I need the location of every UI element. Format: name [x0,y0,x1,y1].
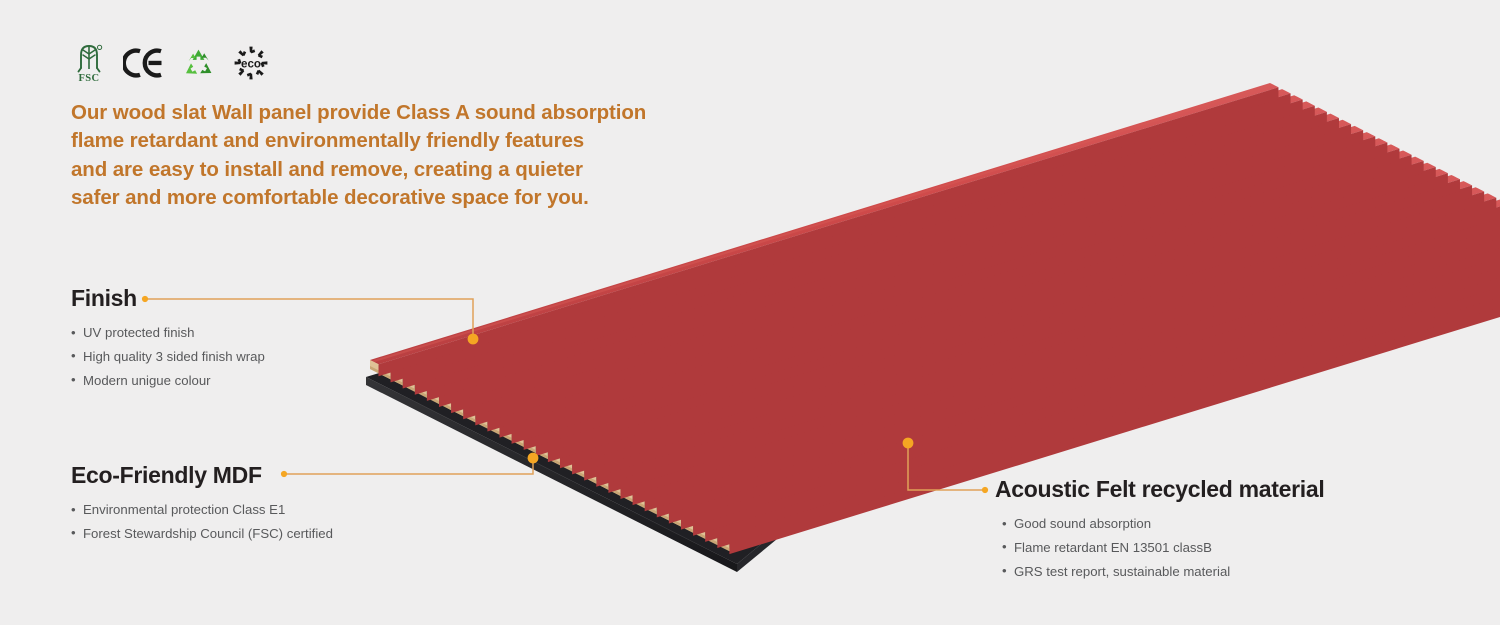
headline-line-4: safer and more comfortable decorative sp… [71,184,711,212]
list-item: UV protected finish [71,321,265,345]
callout-eco-friendly-mdf: Eco-Friendly MDF Environmental protectio… [71,462,333,546]
callout-mdf-list: Environmental protection Class E1 Forest… [71,498,333,546]
list-item: Modern unigue colour [71,369,265,393]
headline-line-3: and are easy to install and remove, crea… [71,156,711,184]
headline-line-1: Our wood slat Wall panel provide Class A… [71,99,711,127]
callout-finish-list: UV protected finish High quality 3 sided… [71,321,265,392]
callout-felt-title: Acoustic Felt recycled material [995,476,1324,503]
callout-finish: Finish UV protected finish High quality … [71,285,265,392]
callout-finish-title: Finish [71,285,265,312]
callout-acoustic-felt: Acoustic Felt recycled material Good sou… [995,476,1324,583]
list-item: Flame retardant EN 13501 classB [1002,536,1324,560]
list-item: Environmental protection Class E1 [71,498,333,522]
page-headline: Our wood slat Wall panel provide Class A… [71,99,711,213]
headline-line-2: flame retardant and environmentally frie… [71,127,711,155]
callout-mdf-title: Eco-Friendly MDF [71,462,333,489]
list-item: Forest Stewardship Council (FSC) certifi… [71,522,333,546]
callout-felt-list: Good sound absorption Flame retardant EN… [1002,512,1324,583]
list-item: High quality 3 sided finish wrap [71,345,265,369]
list-item: GRS test report, sustainable material [1002,560,1324,584]
list-item: Good sound absorption [1002,512,1324,536]
